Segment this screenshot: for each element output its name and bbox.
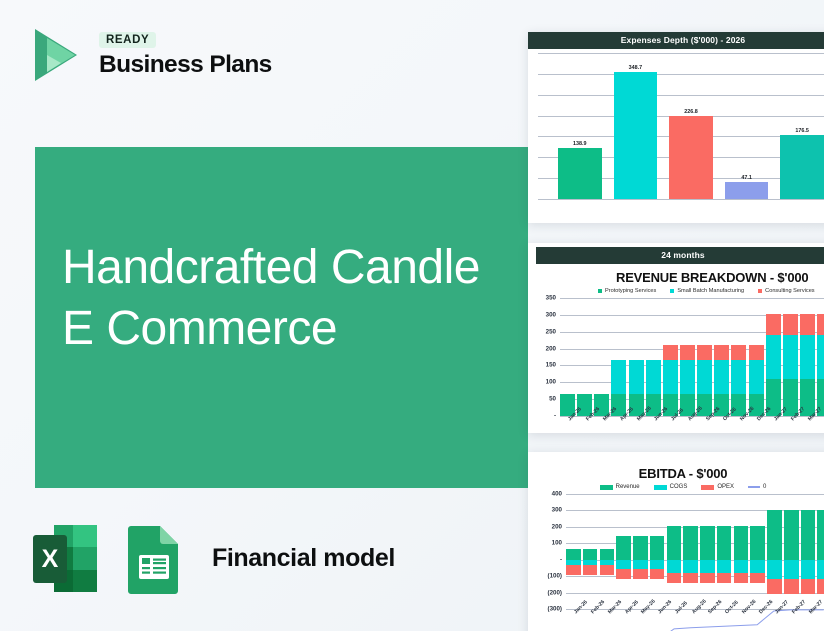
google-sheets-icon — [118, 522, 189, 595]
svg-text:X: X — [42, 545, 59, 573]
bar-column — [783, 298, 798, 416]
bar-column — [663, 298, 678, 416]
brand-text: READY Business Plans — [99, 32, 272, 79]
legend-item: COGS — [654, 484, 688, 490]
bar-column — [560, 298, 575, 416]
y-axis-tick: - — [534, 556, 562, 563]
y-axis-tick: 150 — [534, 362, 556, 369]
y-axis-tick: 350 — [534, 295, 556, 302]
bar-column: 226.8 — [669, 53, 713, 199]
bar-segment — [817, 335, 824, 379]
brand-logo-block: READY Business Plans — [27, 24, 272, 86]
y-axis-tick: 200 — [534, 345, 556, 352]
bar-column: 348.7 — [614, 53, 658, 199]
bar-segment — [780, 135, 824, 199]
revenue-bars — [560, 298, 824, 416]
bar-column — [646, 298, 661, 416]
bar-segment — [680, 360, 695, 394]
footer-row: X Financial model — [30, 522, 395, 595]
legend-item: 0 — [748, 484, 766, 490]
page-title: Handcrafted Candle E Commerce — [62, 237, 482, 359]
bar-column — [817, 298, 824, 416]
legend-label: Consulting Services — [765, 288, 814, 294]
legend-swatch — [758, 289, 762, 293]
bar-segment — [646, 360, 661, 394]
bar-segment — [663, 345, 678, 360]
bar-segment — [800, 314, 815, 335]
bar-segment — [697, 345, 712, 360]
bar-segment — [663, 360, 678, 394]
bar-segment — [629, 360, 644, 394]
y-axis-tick: (200) — [534, 589, 562, 596]
legend-swatch — [598, 289, 602, 293]
legend-label: 0 — [763, 484, 766, 490]
chart-card-ebitda[interactable]: EBITDA - $'000 RevenueCOGSOPEX0 40030020… — [528, 452, 824, 631]
gridline — [538, 199, 824, 200]
y-axis-tick: (100) — [534, 573, 562, 580]
y-axis-tick: 300 — [534, 507, 562, 514]
y-axis-tick: 100 — [534, 379, 556, 386]
bar-segment — [714, 345, 729, 360]
bar-value-label: 176.5 — [795, 128, 809, 134]
legend-label: COGS — [670, 484, 688, 490]
bar-segment — [697, 360, 712, 394]
ebitda-title: EBITDA - $'000 — [528, 452, 824, 483]
legend-swatch — [654, 485, 667, 490]
y-axis-tick: 400 — [534, 491, 562, 498]
legend-swatch — [600, 485, 613, 490]
expenses-bars: 138.9348.7226.847.1176.5 — [558, 53, 824, 199]
bar-column: 176.5 — [780, 53, 824, 199]
bar-segment — [680, 345, 695, 360]
bar-value-label: 138.9 — [573, 141, 587, 147]
brand-name: Business Plans — [99, 51, 272, 79]
bar-column — [766, 298, 781, 416]
y-axis-tick: 300 — [534, 311, 556, 318]
legend-swatch — [748, 486, 760, 488]
bar-segment — [817, 314, 824, 335]
bar-segment — [783, 314, 798, 335]
bar-segment — [714, 360, 729, 394]
play-triangle-logo-icon — [27, 24, 85, 86]
ebitda-legend: RevenueCOGSOPEX0 — [528, 483, 824, 492]
legend-item: OPEX — [701, 484, 734, 490]
bar-value-label: 47.1 — [741, 175, 752, 181]
microsoft-excel-icon: X — [30, 522, 101, 595]
footer-label: Financial model — [212, 544, 395, 573]
legend-swatch — [670, 289, 674, 293]
legend-label: Revenue — [616, 484, 640, 490]
bar-column — [697, 298, 712, 416]
y-axis-tick: 250 — [534, 328, 556, 335]
y-axis-tick: 200 — [534, 523, 562, 530]
bar-segment — [731, 345, 746, 360]
legend-swatch — [701, 485, 714, 490]
legend-label: Prototyping Services — [605, 288, 656, 294]
ready-badge: READY — [99, 32, 156, 48]
bar-column — [800, 298, 815, 416]
bar-column — [611, 298, 626, 416]
slide-canvas: READY Business Plans Handcrafted Candle … — [0, 0, 824, 631]
bar-segment — [725, 182, 769, 199]
y-axis-tick: - — [534, 413, 556, 420]
bar-value-label: 226.8 — [684, 109, 698, 115]
y-axis-tick: 50 — [534, 396, 556, 403]
bar-segment — [611, 360, 626, 394]
legend-item: Revenue — [600, 484, 640, 490]
bar-column — [714, 298, 729, 416]
bar-column — [577, 298, 592, 416]
bar-column — [749, 298, 764, 416]
revenue-banner: 24 months — [536, 247, 824, 264]
bar-segment — [749, 345, 764, 360]
bar-segment — [558, 148, 602, 199]
legend-label: Small Batch Manufacturing — [677, 288, 744, 294]
revenue-legend: Prototyping ServicesSmall Batch Manufact… — [528, 287, 824, 296]
legend-label: OPEX — [717, 484, 734, 490]
bar-segment — [766, 314, 781, 335]
bar-segment — [669, 116, 713, 199]
bar-segment — [783, 335, 798, 379]
bar-column — [629, 298, 644, 416]
bar-segment — [731, 360, 746, 394]
bar-column — [731, 298, 746, 416]
revenue-title: REVENUE BREAKDOWN - $'000 — [528, 264, 824, 287]
bar-column — [680, 298, 695, 416]
ebitda-plot: 400300200100-(100)(200)(300) Jan-26Feb-2… — [534, 494, 824, 609]
y-axis-tick: 100 — [534, 540, 562, 547]
legend-item: Prototyping Services — [598, 288, 656, 294]
legend-item: Small Batch Manufacturing — [670, 288, 744, 294]
y-axis-tick: (300) — [534, 606, 562, 613]
bar-segment — [800, 335, 815, 379]
chart-card-expenses[interactable]: Expenses Depth ($'000) - 2026 138.9348.7… — [528, 32, 824, 223]
expenses-banner: Expenses Depth ($'000) - 2026 — [528, 32, 824, 49]
bar-segment — [749, 360, 764, 394]
bar-column: 47.1 — [725, 53, 769, 199]
bar-segment — [766, 335, 781, 379]
expenses-plot: 138.9348.7226.847.1176.5 — [538, 53, 824, 199]
bar-column: 138.9 — [558, 53, 602, 199]
revenue-plot: 35030025020015010050- Jan-26Feb-26Mar-26… — [534, 298, 824, 416]
legend-item: Consulting Services — [758, 288, 814, 294]
bar-column — [594, 298, 609, 416]
chart-card-revenue[interactable]: 24 months REVENUE BREAKDOWN - $'000 Prot… — [528, 243, 824, 433]
bar-segment — [614, 72, 658, 199]
bar-value-label: 348.7 — [629, 65, 643, 71]
